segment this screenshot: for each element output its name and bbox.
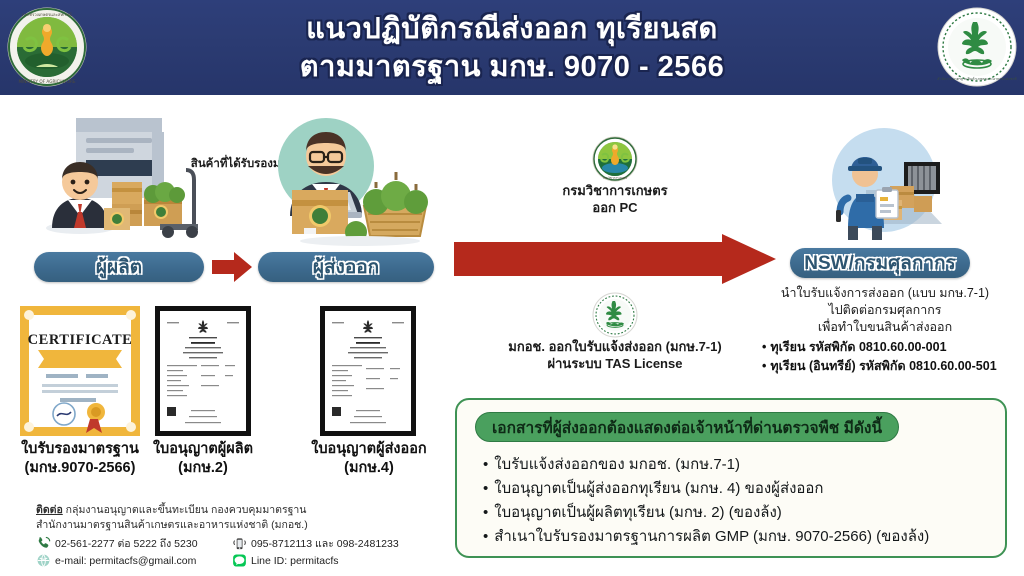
exporter-license-thumbnail — [320, 306, 416, 436]
mobile-phone-icon — [232, 536, 247, 551]
doc-cert-caption: ใบรับรองมาตรฐาน (มกษ.9070-2566) — [2, 440, 158, 478]
acfs-seal-icon — [592, 292, 638, 338]
contact-office-line-2: สำนักงานมาตรฐานสินค้าเกษตรและอาหารแห่งชา… — [36, 518, 436, 533]
bullet-icon: • — [762, 359, 766, 373]
contact-block: ติดต่อ กลุ่มงานอนุญาตและขึ้นทะเบียน กองค… — [36, 503, 436, 569]
list-item: •ใบรับแจ้งส่งออกของ มกอช. (มกษ.7-1) — [483, 453, 1003, 477]
svg-text:CERTIFICATE: CERTIFICATE — [28, 332, 133, 348]
pill-exporter[interactable]: ผู้ส่งออก — [258, 252, 434, 282]
flow-arrow-large-icon — [454, 234, 776, 284]
bullet-icon: • — [762, 340, 766, 354]
doc-mk4-caption-1: ใบอนุญาตผู้ส่งออก — [303, 440, 435, 459]
list-item: •ใบอนุญาตเป็นผู้ส่งออกทุเรียน (มกษ. 4) ข… — [483, 477, 1003, 501]
title-line-2: ตามมาตรฐาน มกษ. 9070 - 2566 — [300, 49, 724, 85]
requirements-box-header: เอกสารที่ผู้ส่งออกต้องแสดงต่อเจ้าหน้าที่… — [475, 412, 899, 442]
agency-doa-caption-2: ออก PC — [470, 199, 760, 216]
doc-producer-license-caption: ใบอนุญาตผู้ผลิต (มกษ.2) — [143, 440, 263, 478]
agency-acfs: มกอช. ออกใบรับแจ้งส่งออก (มกษ.7-1) ผ่านร… — [450, 292, 780, 372]
email-globe-icon — [36, 553, 51, 568]
agency-acfs-caption-2: ผ่านระบบ TAS License — [450, 355, 780, 372]
infographic-page: กระทรวงเกษตรและสหกรณ์ MINISTRY OF AGRICU… — [0, 0, 1024, 576]
doc-mk2-caption-1: ใบอนุญาตผู้ผลิต — [143, 440, 263, 459]
producer-license-thumbnail — [155, 306, 251, 436]
doc-cert-caption-2: (มกษ.9070-2566) — [2, 459, 158, 478]
requirements-box: เอกสารที่ผู้ส่งออกต้องแสดงต่อเจ้าหน้าที่… — [455, 398, 1007, 558]
page-title: แนวปฏิบัติกรณีส่งออก ทุเรียนสด ตามมาตรฐา… — [110, 4, 914, 92]
list-item: •ใบอนุญาตเป็นผู้ผลิตทุเรียน (มกษ. 2) (ขอ… — [483, 501, 1003, 525]
contact-office-rest: กลุ่มงานอนุญาตและขึ้นทะเบียน กองควบคุมมา… — [63, 504, 307, 516]
bullet-icon: • — [483, 504, 488, 521]
customs-tariff-codes: •ทุเรียน รหัสพิกัด 0810.60.00-001 •ทุเรี… — [762, 338, 1024, 376]
svg-text:สำนักงานมาตรฐานสินค้าเกษตรและอ: สำนักงานมาตรฐานสินค้าเกษตรและอาหารแห่งชา… — [937, 76, 1017, 81]
agency-doa-caption-1: กรมวิชาการเกษตร — [470, 182, 760, 199]
bullet-icon: • — [483, 456, 488, 473]
ministry-of-agriculture-seal-icon: กระทรวงเกษตรและสหกรณ์ MINISTRY OF AGRICU… — [6, 6, 88, 88]
acfs-seal-icon: สำนักงานมาตรฐานสินค้าเกษตรและอาหารแห่งชา… — [936, 6, 1018, 88]
title-line-1: แนวปฏิบัติกรณีส่งออก ทุเรียนสด — [306, 11, 718, 47]
agency-acfs-caption-1: มกอช. ออกใบรับแจ้งส่งออก (มกษ.7-1) — [450, 338, 780, 355]
customs-note: นำใบรับแจ้งการส่งออก (แบบ มกษ.7-1) ไปติด… — [752, 285, 1018, 336]
line-app-icon — [232, 553, 247, 568]
list-item: •สำเนาใบรับรองมาตรฐานการผลิต GMP (มกษ. 9… — [483, 525, 1003, 549]
contact-row-online: e-mail: permitacfs@gmail.com Line ID: pe… — [36, 552, 436, 569]
svg-text:กระทรวงเกษตรและสหกรณ์: กระทรวงเกษตรและสหกรณ์ — [22, 12, 72, 17]
phone-icon — [36, 536, 51, 551]
contact-line-id-value: Line ID: permitacfs — [251, 555, 339, 567]
doc-cert-caption-1: ใบรับรองมาตรฐาน — [2, 440, 158, 459]
agency-department-of-agriculture: กรมวิชาการเกษตร กรมวิชาการเกษตร ออก PC — [470, 136, 760, 216]
contact-mobile[interactable]: 095-8712113 และ 098-2481233 — [232, 535, 399, 552]
requirement-4: สำเนาใบรับรองมาตรฐานการผลิต GMP (มกษ. 90… — [494, 528, 929, 545]
requirement-3: ใบอนุญาตเป็นผู้ผลิตทุเรียน (มกษ. 2) (ของ… — [494, 504, 782, 521]
pill-nsw-customs[interactable]: NSW/กรมศุลกากร — [790, 248, 970, 278]
contact-email-value: e-mail: permitacfs@gmail.com — [55, 555, 196, 567]
flow-arrow-small-icon — [212, 250, 254, 284]
contact-phone-value: 02-561-2277 ต่อ 5222 ถึง 5230 — [55, 535, 198, 552]
doc-mk4-caption-2: (มกษ.4) — [303, 459, 435, 478]
bullet-icon: • — [483, 480, 488, 497]
customs-note-line-2: ไปติดต่อกรมศุลกากร — [752, 302, 1018, 319]
list-item: •ทุเรียน (อินทรีย์) รหัสพิกัด 0810.60.00… — [762, 357, 1024, 376]
standard-certificate-thumbnail: CERTIFICATE — [20, 306, 140, 436]
doc-mk2-caption-2: (มกษ.2) — [143, 459, 263, 478]
bullet-icon: • — [483, 528, 488, 545]
tariff-code-durian: ทุเรียน รหัสพิกัด 0810.60.00-001 — [770, 340, 946, 354]
svg-text:กรมวิชาการเกษตร: กรมวิชาการเกษตร — [603, 176, 628, 180]
svg-text:MINISTRY OF AGRICULTURE: MINISTRY OF AGRICULTURE — [18, 79, 75, 84]
doc-exporter-license-caption: ใบอนุญาตผู้ส่งออก (มกษ.4) — [303, 440, 435, 478]
customs-note-line-3: เพื่อทำใบขนสินค้าส่งออก — [752, 319, 1018, 336]
contact-row-phone: 02-561-2277 ต่อ 5222 ถึง 5230 095-871211… — [36, 535, 436, 552]
contact-phone[interactable]: 02-561-2277 ต่อ 5222 ถึง 5230 — [36, 535, 232, 552]
contact-prefix: ติดต่อ — [36, 504, 63, 516]
exporter-illustration — [248, 108, 444, 248]
producer-illustration — [34, 108, 214, 248]
contact-mobile-value: 095-8712113 และ 098-2481233 — [251, 535, 399, 552]
customs-note-line-1: นำใบรับแจ้งการส่งออก (แบบ มกษ.7-1) — [752, 285, 1018, 302]
contact-line-id[interactable]: Line ID: permitacfs — [232, 553, 339, 568]
contact-email[interactable]: e-mail: permitacfs@gmail.com — [36, 553, 232, 568]
requirements-list: •ใบรับแจ้งส่งออกของ มกอช. (มกษ.7-1) •ใบอ… — [483, 453, 1003, 549]
department-of-agriculture-seal-icon: กรมวิชาการเกษตร — [592, 136, 638, 182]
list-item: •ทุเรียน รหัสพิกัด 0810.60.00-001 — [762, 338, 1024, 357]
requirement-1: ใบรับแจ้งส่งออกของ มกอช. (มกษ.7-1) — [494, 456, 740, 473]
header-banner: กระทรวงเกษตรและสหกรณ์ MINISTRY OF AGRICU… — [0, 0, 1024, 95]
tariff-code-durian-organic: ทุเรียน (อินทรีย์) รหัสพิกัด 0810.60.00-… — [770, 359, 996, 373]
pill-producer[interactable]: ผู้ผลิต — [34, 252, 204, 282]
contact-office-line-1: ติดต่อ กลุ่มงานอนุญาตและขึ้นทะเบียน กองค… — [36, 503, 436, 518]
customs-officer-illustration — [818, 128, 950, 240]
requirement-2: ใบอนุญาตเป็นผู้ส่งออกทุเรียน (มกษ. 4) ขอ… — [494, 480, 823, 497]
